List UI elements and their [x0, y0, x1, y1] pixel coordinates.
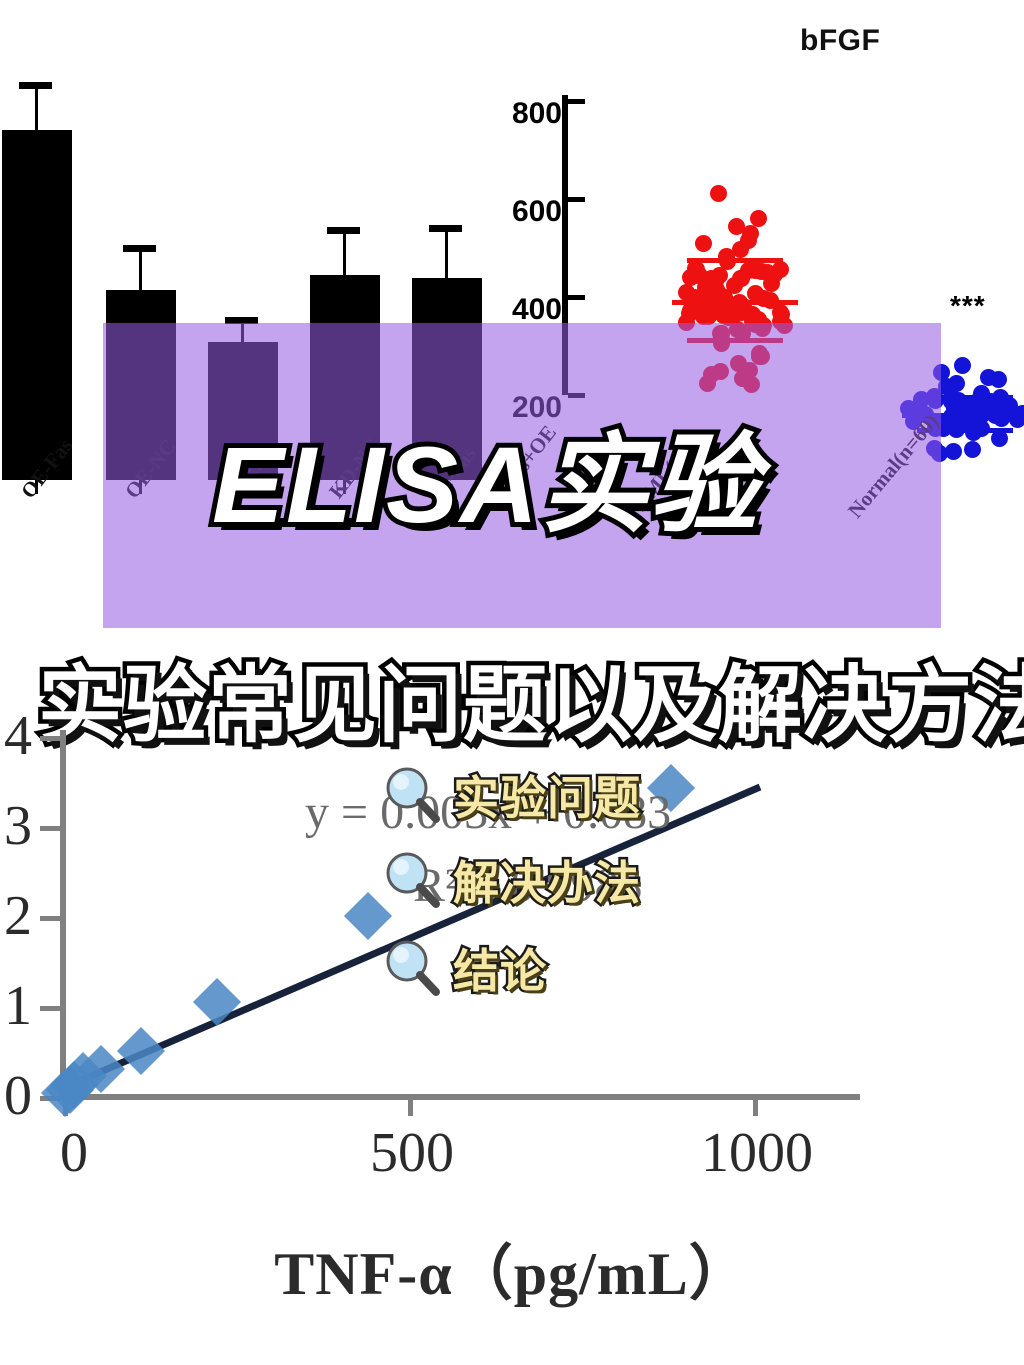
callout-label: 实验问题	[453, 762, 641, 828]
dot-plot-y-axis	[562, 95, 568, 395]
callout-item[interactable]: 解决办法	[381, 847, 641, 913]
infographic-canvas: bFGF OE-Fas OE-NC	[0, 0, 1024, 1365]
swarm-dot	[751, 345, 768, 362]
dot-plot-y-tick: 800	[568, 99, 585, 104]
swarm-mean-line	[672, 300, 798, 305]
standard-curve-x-axis-label: TNF-α（pg/mL）	[0, 1225, 1024, 1312]
standard-curve-y-tick: 1	[40, 1006, 60, 1011]
standard-curve-y-tick-label: 0	[4, 1068, 32, 1124]
bar-error-bar	[35, 85, 38, 130]
dot-plot-y-tick: 400	[568, 295, 585, 300]
standard-curve-y-tick: 3	[40, 826, 60, 831]
swarm-dot	[732, 270, 749, 287]
standard-curve-y-tick-label: 1	[4, 978, 32, 1034]
bar-group: OE-NC	[106, 70, 176, 480]
callout-item[interactable]: 结论	[381, 935, 547, 1001]
standard-curve-x-tick-label: 1000	[701, 1125, 813, 1181]
dot-plot-y-tick: 600	[568, 197, 585, 202]
swarm-dot	[980, 369, 997, 386]
dot-plot-y-tick-label: 400	[512, 295, 562, 325]
magnifier-icon	[381, 937, 443, 999]
standard-curve-y-tick-label: 4	[4, 708, 32, 764]
magnifier-icon	[381, 849, 443, 911]
swarm-dot	[710, 185, 727, 202]
swarm-dot	[750, 210, 767, 227]
standard-curve-x-tick-label: 0	[60, 1125, 88, 1181]
callout-item[interactable]: 实验问题	[381, 762, 641, 828]
swarm-dot	[964, 441, 981, 458]
swarm-mean-line	[687, 258, 783, 263]
callout-label: 解决办法	[453, 847, 641, 913]
bar-rect	[2, 130, 72, 480]
swarm-dot	[766, 266, 783, 283]
swarm-dot	[776, 317, 793, 334]
swarm-dot	[747, 262, 764, 279]
bar-error-cap	[327, 227, 360, 234]
swarm-dot	[954, 357, 971, 374]
swarm-dot	[755, 317, 772, 334]
swarm-dot	[734, 370, 751, 387]
dot-plot-group-label: Normal(n=60)	[843, 409, 944, 523]
dot-plot-y-tick-label: 800	[512, 99, 562, 129]
swarm-dot	[678, 314, 695, 331]
bfgf-chart-title: bFGF	[800, 24, 880, 58]
swarm-dot	[703, 366, 720, 383]
bar-error-cap	[19, 82, 52, 89]
bar-error-cap	[123, 245, 156, 252]
standard-curve-y-tick: 4	[40, 736, 60, 741]
bar-error-bar	[445, 228, 448, 278]
swarm-dot	[740, 232, 757, 249]
bar-error-bar	[139, 248, 142, 290]
callout-label: 结论	[453, 935, 547, 1001]
magnifier-icon	[381, 764, 443, 826]
significance-marker: ***	[950, 290, 986, 322]
swarm-mean-line	[687, 338, 783, 343]
standard-curve-y-tick-label: 2	[4, 888, 32, 944]
standard-curve-y-tick-label: 3	[4, 798, 32, 854]
swarm-dot	[931, 445, 948, 462]
bar-error-cap	[225, 317, 258, 324]
swarm-dot	[695, 235, 712, 252]
dot-plot-y-tick-label: 600	[512, 197, 562, 227]
standard-curve-x-tick-label: 500	[370, 1125, 454, 1181]
standard-curve-y-tick: 2	[40, 916, 60, 921]
swarm-mean-line	[917, 395, 1013, 400]
headline-primary: ELISA实验	[212, 398, 760, 554]
bar-error-cap	[429, 225, 462, 232]
bar-error-bar	[343, 230, 346, 275]
bar-group: OE-Fas	[2, 70, 72, 480]
